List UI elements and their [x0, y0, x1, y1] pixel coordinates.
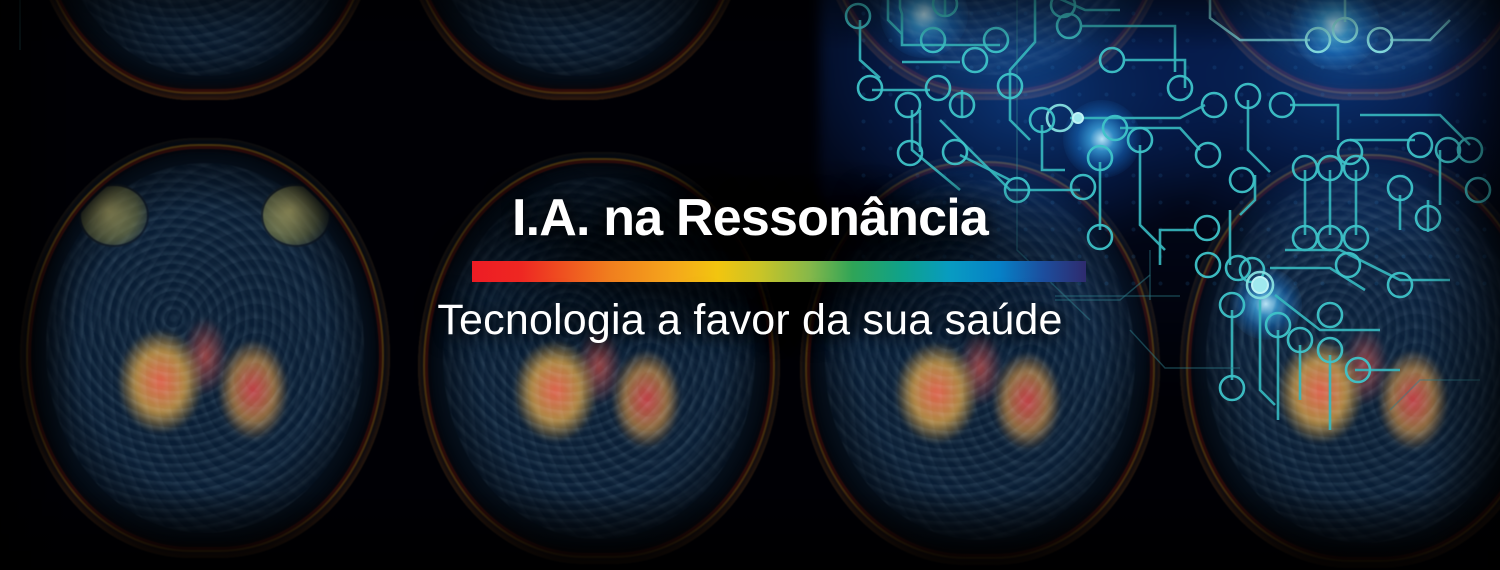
- scan-vignette: [20, 138, 390, 558]
- scan-vignette: [800, 155, 1160, 565]
- scan-vignette: [400, 0, 750, 100]
- mri-slice-top-2: [400, 0, 750, 100]
- scan-vignette: [1180, 148, 1500, 568]
- mri-slice-top-3: [815, 0, 1175, 100]
- mri-scan-layer: [0, 0, 1500, 570]
- scan-vignette: [1185, 0, 1500, 100]
- mri-slice-main-3: [800, 155, 1160, 565]
- mri-slice-main-1: [20, 138, 390, 558]
- mri-slice-top-4: [1185, 0, 1500, 100]
- banner-root: I.A. na Ressonância Tecnologia a favor d…: [0, 0, 1500, 570]
- mri-slice-main-4: [1180, 148, 1500, 568]
- mri-slice-main-2: [418, 152, 780, 564]
- scan-vignette: [30, 0, 380, 100]
- mri-slice-top-1: [30, 0, 380, 100]
- scan-vignette: [815, 0, 1175, 100]
- scan-vignette: [418, 152, 780, 564]
